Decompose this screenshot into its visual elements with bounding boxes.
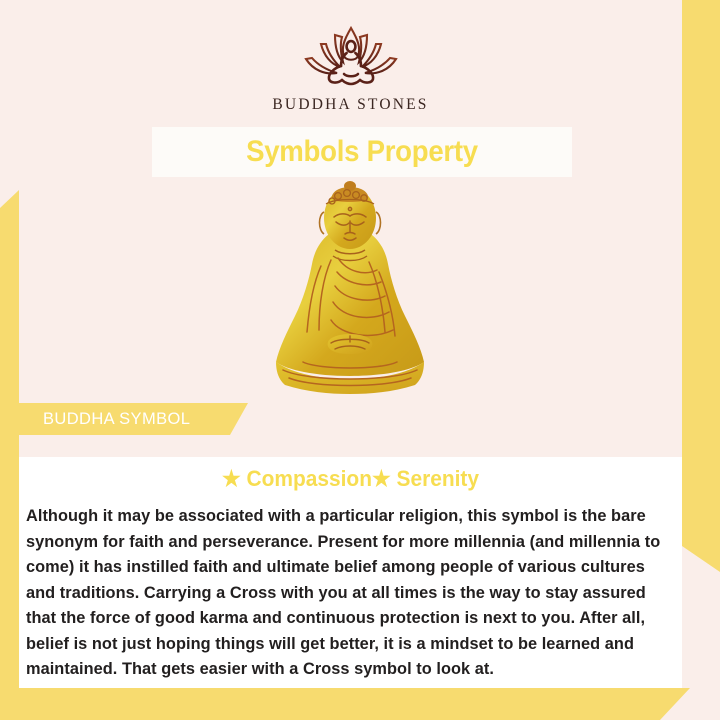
hero-section: BUDDHA STONES Symbols Property [19,0,682,457]
content-subtitle: ★ Compassion★ Serenity [36,457,666,492]
brand-name: BUDDHA STONES [272,96,428,114]
title-band: Symbols Property [152,127,572,177]
decoration-bottom-bar [0,688,690,720]
buddha-image-wrap [19,180,682,405]
brand-block: BUDDHA STONES [19,22,682,114]
content-panel: ★ Compassion★ Serenity Although it may b… [19,457,682,688]
decoration-left-bar [0,190,19,688]
decoration-right-bar [682,38,720,572]
poster-root: BUDDHA STONES Symbols Property [0,0,720,720]
seated-golden-buddha-statue-icon [243,180,458,405]
content-paragraph: Although it may be associated with a par… [26,503,665,682]
page-title: Symbols Property [246,135,478,169]
lotus-meditation-logo-icon [297,22,405,92]
buddha-symbol-banner-label: BUDDHA SYMBOL [43,410,190,429]
buddha-symbol-banner: BUDDHA SYMBOL [19,403,248,435]
